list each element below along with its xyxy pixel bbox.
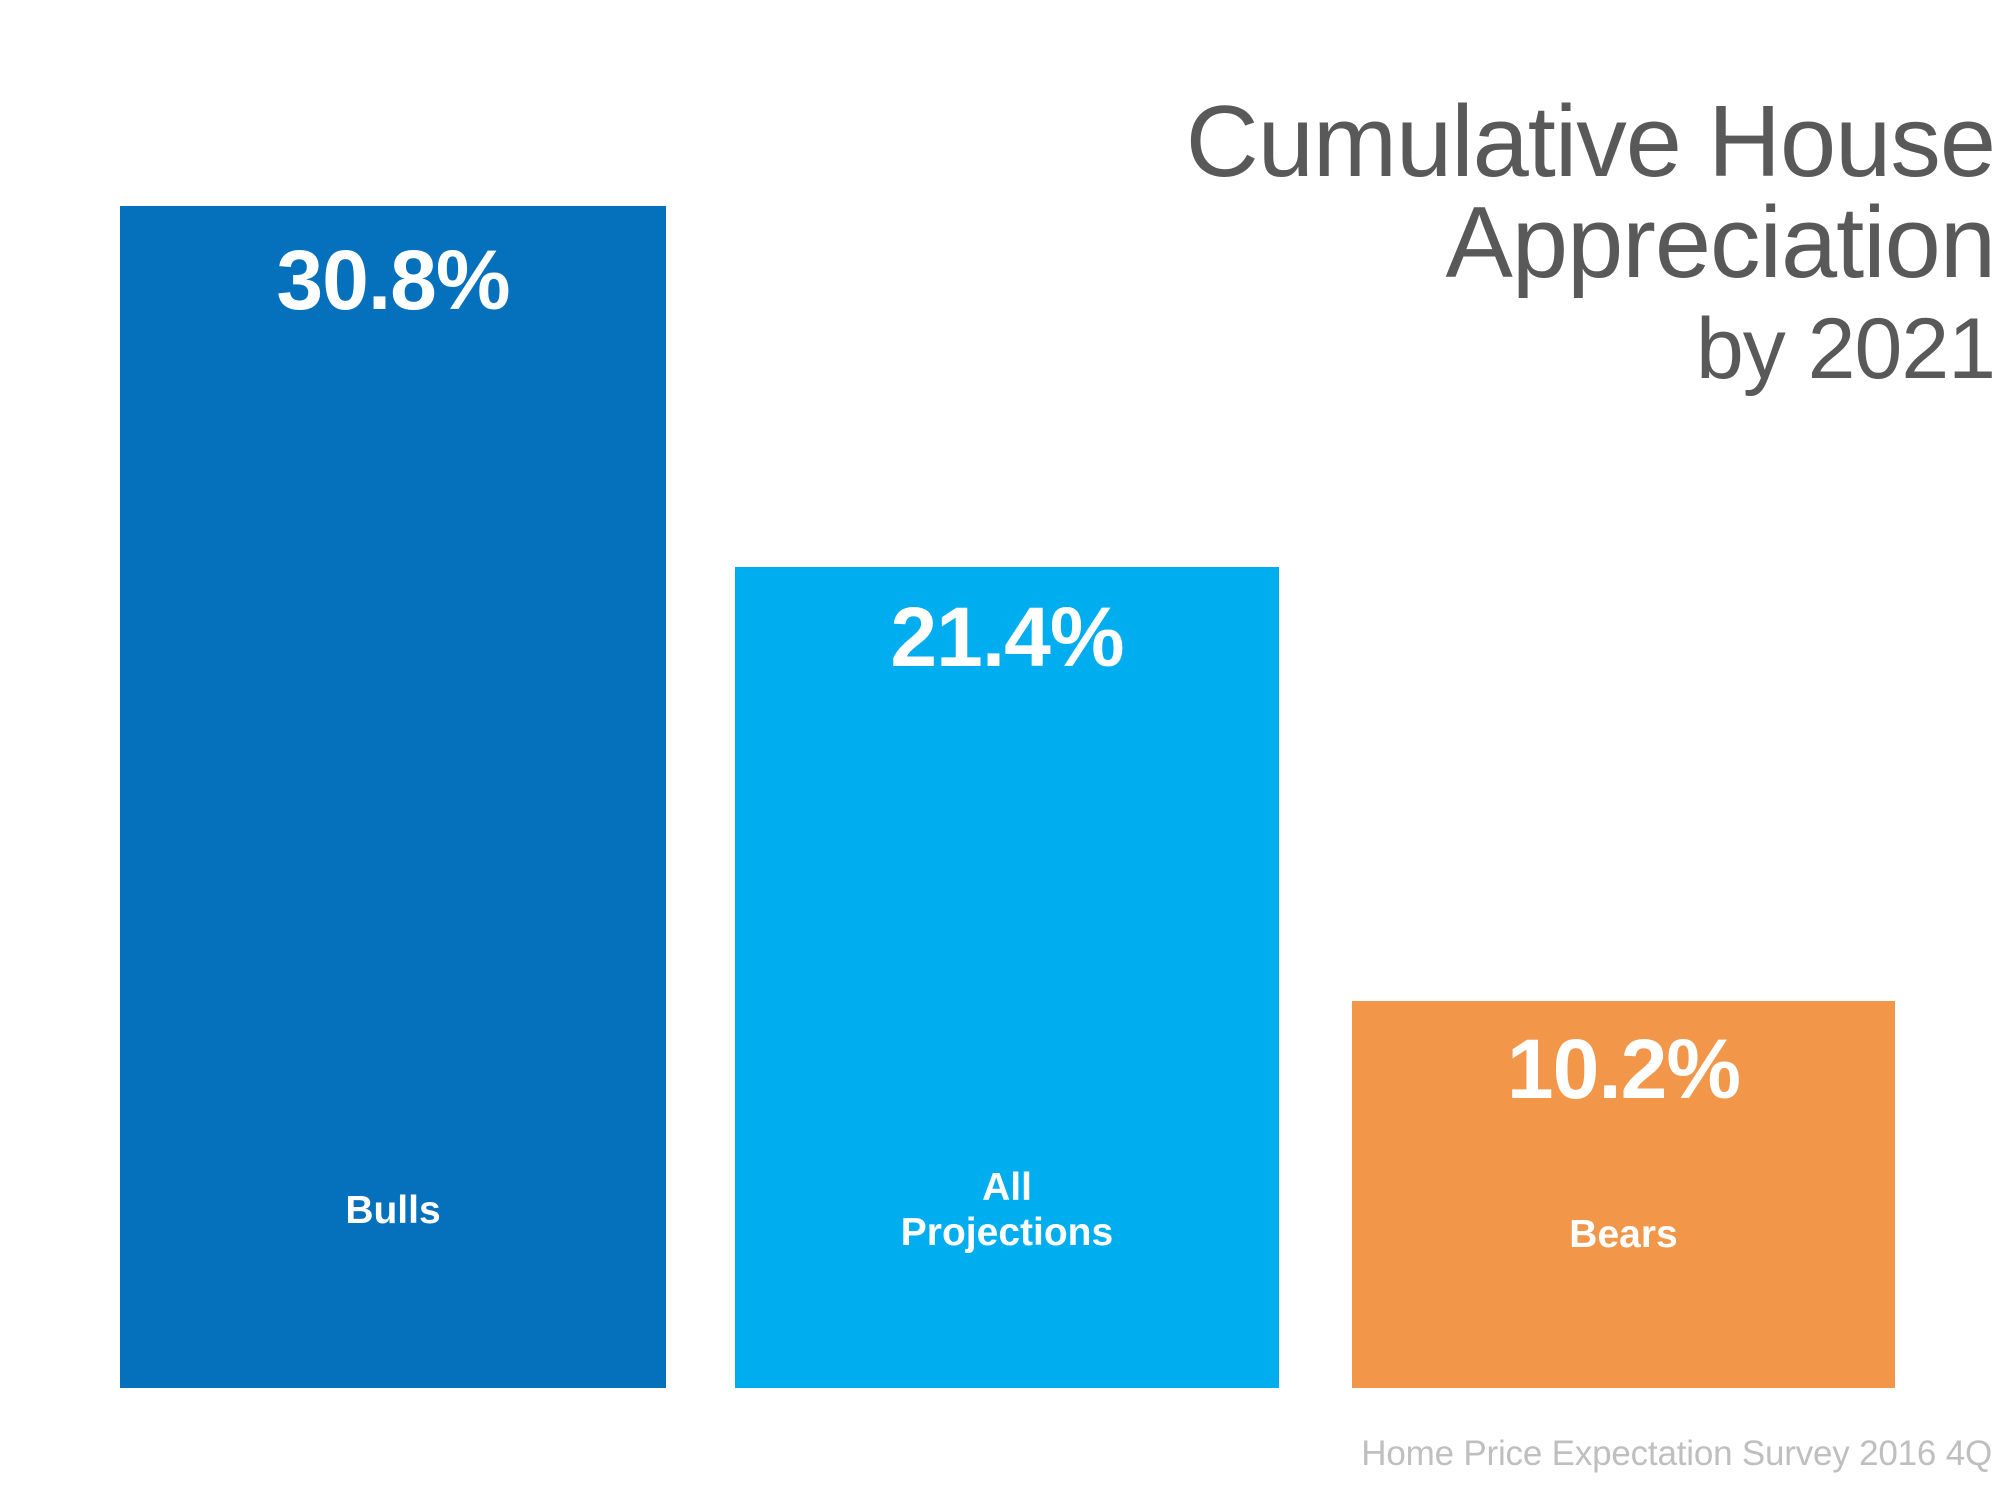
bar-category-label-bulls: Bulls <box>120 1189 666 1234</box>
bar-value-label-all-projections: 21.4% <box>735 595 1279 679</box>
bar-all-projections: 21.4% All Projections <box>735 567 1279 1388</box>
bar-category-label-bears: Bears <box>1352 1213 1895 1258</box>
source-note: Home Price Expectation Survey 2016 4Q <box>1361 1434 1992 1474</box>
bar-category-label-all-projections-line-1: All <box>982 1166 1032 1209</box>
chart-slide: Cumulative House Appreciation by 2021 30… <box>0 0 2000 1500</box>
bar-bears: 10.2% Bears <box>1352 1001 1895 1388</box>
bar-category-label-all-projections-line-2: Projections <box>901 1211 1113 1254</box>
bar-chart-plot-area: 30.8% Bulls 21.4% All Projections 10.2% … <box>0 0 2000 1500</box>
bar-value-label-bears: 10.2% <box>1352 1027 1895 1111</box>
bar-value-label-bulls: 30.8% <box>120 238 666 322</box>
bar-category-label-all-projections: All Projections <box>735 1166 1279 1256</box>
bar-bulls: 30.8% Bulls <box>120 206 666 1388</box>
